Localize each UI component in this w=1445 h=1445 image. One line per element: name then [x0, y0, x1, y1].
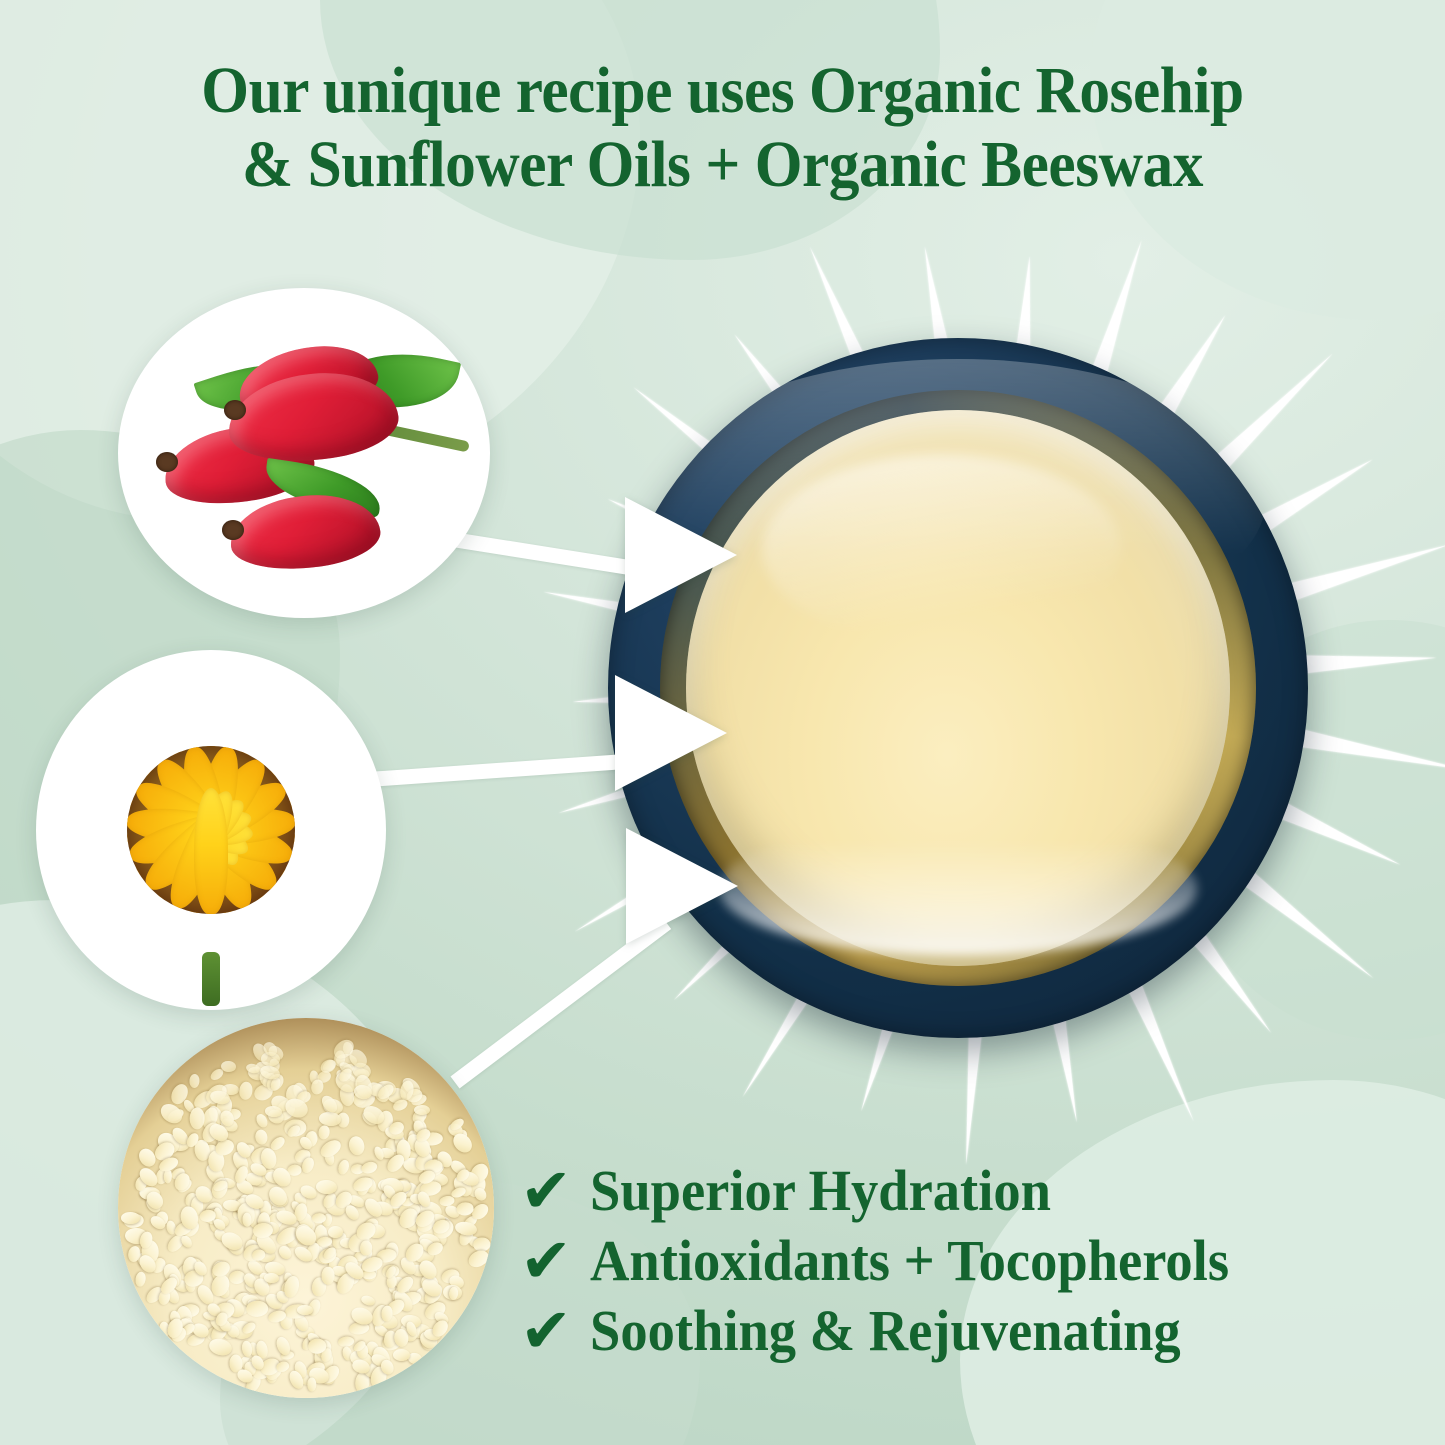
- beeswax-pellet: [189, 1073, 200, 1088]
- balm-surface: [686, 410, 1230, 966]
- check-icon: ✔: [520, 1230, 572, 1292]
- starburst-ray: [1273, 800, 1404, 873]
- check-icon: ✔: [520, 1300, 572, 1362]
- starburst-ray: [1304, 649, 1437, 674]
- beeswax-pellet: [465, 1247, 491, 1271]
- rosehip-cap: [222, 520, 244, 540]
- ingredient-circle-rosehip: [118, 288, 490, 618]
- page-title: Our unique recipe uses Organic Rosehip &…: [51, 54, 1395, 202]
- list-item: ✔ Antioxidants + Tocopherols: [520, 1230, 1400, 1292]
- beeswax-pellet: [321, 1267, 335, 1285]
- beeswax-pellet: [264, 1272, 279, 1283]
- arrow-beeswax-icon: [626, 828, 738, 944]
- beeswax-pellet: [473, 1186, 489, 1203]
- starburst-ray: [1289, 536, 1445, 601]
- beeswax-pellet: [414, 1105, 430, 1115]
- rosehip-cap: [156, 452, 178, 472]
- starburst-ray: [1233, 863, 1379, 985]
- list-item: ✔ Superior Hydration: [520, 1160, 1400, 1222]
- beeswax-pellet: [134, 1271, 147, 1287]
- beeswax-pellet: [307, 1377, 316, 1391]
- ingredient-circle-sunflower: [36, 650, 386, 1010]
- ingredient-circle-beeswax: [118, 1018, 494, 1398]
- beeswax-pellet: [318, 1125, 331, 1141]
- benefits-list: ✔ Superior Hydration ✔ Antioxidants + To…: [520, 1160, 1400, 1370]
- beeswax-pellet: [246, 1300, 269, 1317]
- arrow-rosehip-icon: [625, 497, 737, 613]
- starburst-ray: [1298, 729, 1445, 779]
- beeswax-pellet: [360, 1160, 379, 1175]
- rosehip-cap: [224, 400, 246, 420]
- list-item: ✔ Soothing & Rejuvenating: [520, 1300, 1400, 1362]
- arrow-sunflower-icon: [615, 675, 727, 791]
- beeswax-photo-icon: [118, 1018, 494, 1398]
- benefit-label: Soothing & Rejuvenating: [590, 1300, 1181, 1361]
- beeswax-pellet: [239, 1081, 254, 1100]
- benefit-label: Superior Hydration: [590, 1160, 1051, 1221]
- balm-highlight: [762, 454, 1121, 643]
- rosehip-photo-icon: [118, 288, 490, 618]
- balm-bottom-sheen: [719, 821, 1198, 954]
- beeswax-pellet: [361, 1240, 373, 1255]
- infographic-canvas: Our unique recipe uses Organic Rosehip &…: [0, 0, 1445, 1445]
- beeswax-pellet: [157, 1100, 185, 1127]
- beeswax-pellet: [360, 1294, 376, 1307]
- check-icon: ✔: [520, 1160, 572, 1222]
- starburst-ray: [1258, 452, 1377, 533]
- starburst-ray: [1211, 347, 1339, 473]
- sunflower-photo-icon: [36, 650, 386, 1010]
- benefit-label: Antioxidants + Tocopherols: [590, 1230, 1229, 1291]
- beeswax-pellet: [242, 1212, 252, 1226]
- beeswax-pellet: [328, 1226, 343, 1238]
- beeswax-pellet: [315, 1180, 336, 1195]
- sunflower-stem: [202, 952, 220, 1006]
- sunflower-petal: [194, 788, 228, 914]
- beeswax-pellet: [254, 1129, 268, 1146]
- beeswax-pellet: [336, 1159, 351, 1176]
- beeswax-pellet: [347, 1135, 366, 1157]
